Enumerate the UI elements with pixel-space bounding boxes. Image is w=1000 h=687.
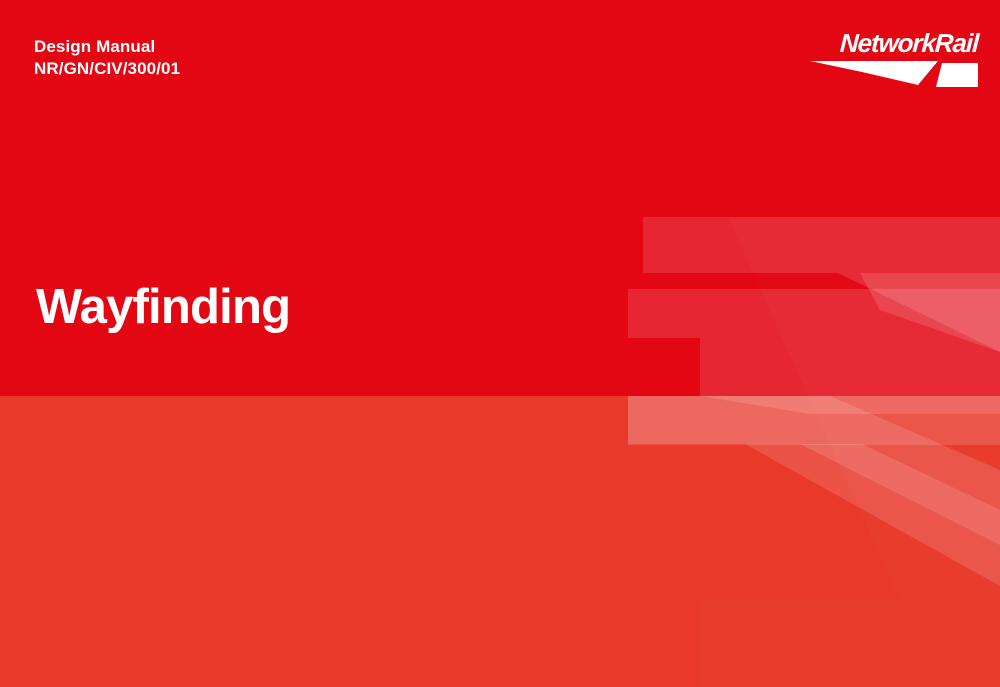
page-title: Wayfinding bbox=[36, 282, 290, 333]
network-rail-logo: NetworkRail bbox=[810, 28, 978, 90]
document-series-label: Design Manual bbox=[34, 36, 180, 58]
document-reference-code: NR/GN/CIV/300/01 bbox=[34, 58, 180, 80]
header-block: Design Manual NR/GN/CIV/300/01 bbox=[34, 36, 180, 81]
network-rail-swoosh-icon bbox=[810, 59, 978, 90]
lower-colour-band bbox=[0, 396, 1000, 687]
network-rail-wordmark: NetworkRail bbox=[839, 28, 979, 59]
document-cover-page: Design Manual NR/GN/CIV/300/01 Wayfindin… bbox=[0, 0, 1000, 687]
